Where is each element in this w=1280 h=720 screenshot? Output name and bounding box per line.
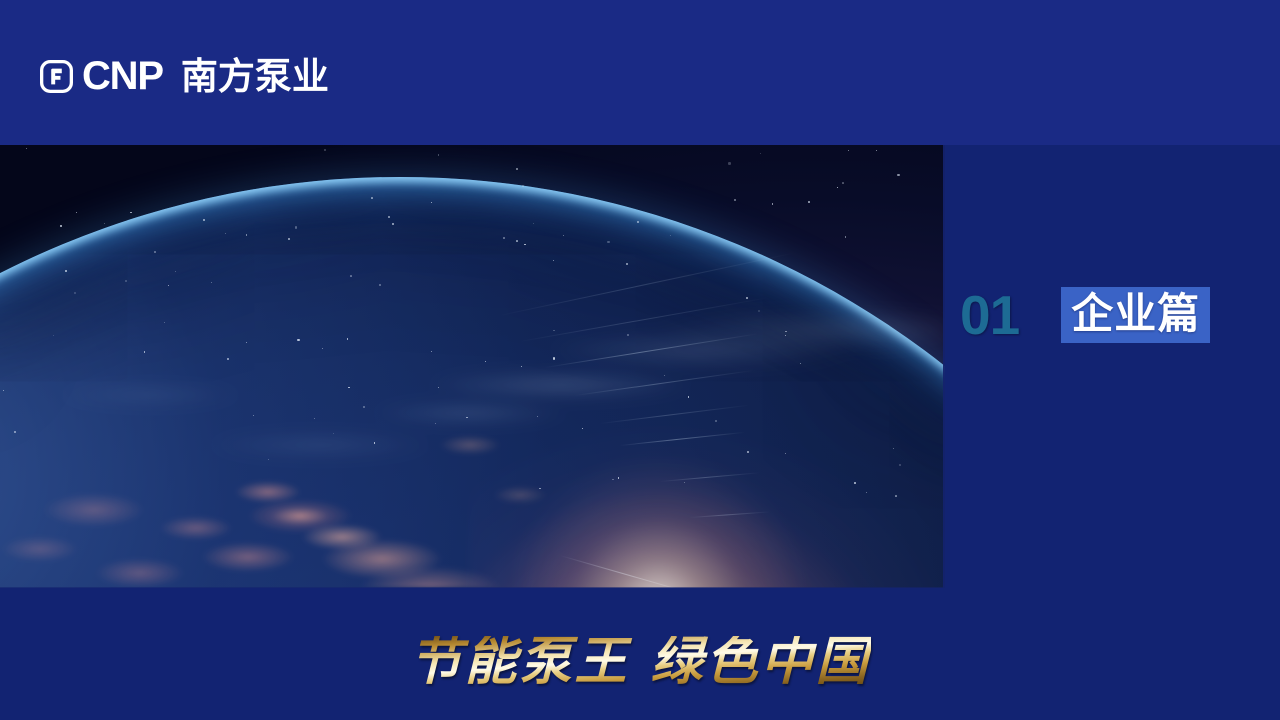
star — [74, 292, 76, 294]
star — [563, 235, 564, 236]
star — [537, 416, 538, 417]
star — [65, 270, 67, 272]
star — [626, 263, 628, 265]
star — [374, 442, 375, 443]
section-marker: 01 企业篇 — [960, 280, 1210, 350]
star — [715, 420, 716, 421]
star — [350, 275, 352, 277]
star — [785, 331, 786, 332]
star — [746, 297, 748, 299]
star — [800, 363, 801, 364]
star — [431, 202, 432, 203]
star — [225, 233, 226, 234]
star — [435, 423, 436, 424]
star — [211, 282, 213, 284]
star — [76, 212, 77, 213]
star — [842, 182, 844, 184]
star — [333, 433, 334, 434]
star — [348, 387, 350, 389]
star — [371, 197, 373, 199]
star — [60, 225, 61, 226]
star — [227, 358, 229, 360]
star — [503, 237, 505, 239]
star — [438, 154, 439, 155]
star — [246, 342, 247, 343]
star — [175, 271, 176, 272]
hero-image-earth-from-space — [0, 145, 945, 588]
presentation-slide: CNP 南方泵业 01 企业篇 节能泵王 绿色中国 — [0, 0, 1280, 720]
star — [582, 428, 584, 430]
star — [670, 235, 671, 236]
star — [637, 221, 639, 223]
star — [876, 150, 877, 151]
star — [516, 168, 518, 170]
star — [734, 199, 736, 201]
star — [438, 387, 439, 388]
star — [895, 495, 897, 497]
star — [897, 174, 899, 176]
star — [760, 153, 761, 154]
logo-chinese-text: 南方泵业 — [181, 58, 329, 95]
star — [758, 310, 760, 312]
star — [521, 366, 522, 367]
star — [854, 482, 856, 484]
star — [747, 451, 749, 453]
star — [379, 284, 381, 286]
star — [688, 396, 690, 398]
section-title-text: 企业篇 — [1071, 293, 1200, 335]
star — [612, 479, 614, 481]
star — [772, 203, 774, 205]
logo-latin-text: CNP — [82, 56, 163, 96]
star — [893, 448, 894, 449]
star — [845, 236, 847, 238]
star — [728, 162, 730, 164]
star — [363, 406, 365, 408]
star — [388, 216, 390, 218]
star — [168, 285, 169, 286]
star — [164, 322, 166, 324]
star — [154, 251, 156, 253]
footer-slogan-text: 节能泵王 绿色中国 — [409, 636, 870, 688]
star — [125, 280, 127, 282]
star — [246, 234, 247, 235]
star — [288, 238, 290, 240]
star — [53, 335, 54, 336]
star — [104, 223, 106, 225]
star — [203, 219, 205, 221]
star — [295, 226, 297, 228]
star — [314, 418, 315, 419]
star — [607, 241, 609, 243]
star — [618, 477, 619, 478]
star — [522, 185, 524, 187]
star — [785, 453, 786, 454]
star — [3, 390, 4, 391]
star — [848, 150, 850, 152]
star — [392, 223, 394, 225]
star — [664, 375, 665, 376]
star — [684, 482, 685, 483]
star — [297, 339, 299, 341]
star — [26, 148, 27, 149]
star — [533, 223, 534, 224]
star — [324, 149, 326, 151]
company-logo: CNP 南方泵业 — [40, 52, 329, 100]
starfield — [0, 145, 945, 588]
star — [130, 212, 131, 213]
star — [466, 417, 468, 419]
footer-slogan: 节能泵王 绿色中国 — [0, 636, 1280, 688]
star — [322, 348, 323, 349]
star — [785, 335, 786, 336]
star — [553, 330, 554, 331]
star — [524, 244, 526, 246]
star — [627, 334, 629, 336]
cnp-logo-mark-icon — [40, 60, 73, 93]
section-title-highlight: 企业篇 — [1061, 287, 1210, 343]
star — [539, 488, 541, 490]
star — [144, 351, 145, 352]
star — [866, 492, 867, 493]
star — [899, 464, 901, 466]
star — [485, 361, 486, 362]
star — [553, 357, 555, 359]
star — [268, 459, 269, 460]
star — [14, 431, 16, 433]
star — [431, 351, 433, 353]
star — [253, 415, 254, 416]
star — [516, 240, 518, 242]
star — [553, 260, 554, 261]
star — [347, 338, 349, 340]
star — [808, 201, 810, 203]
star — [837, 187, 838, 188]
section-number: 01 — [960, 288, 1019, 343]
